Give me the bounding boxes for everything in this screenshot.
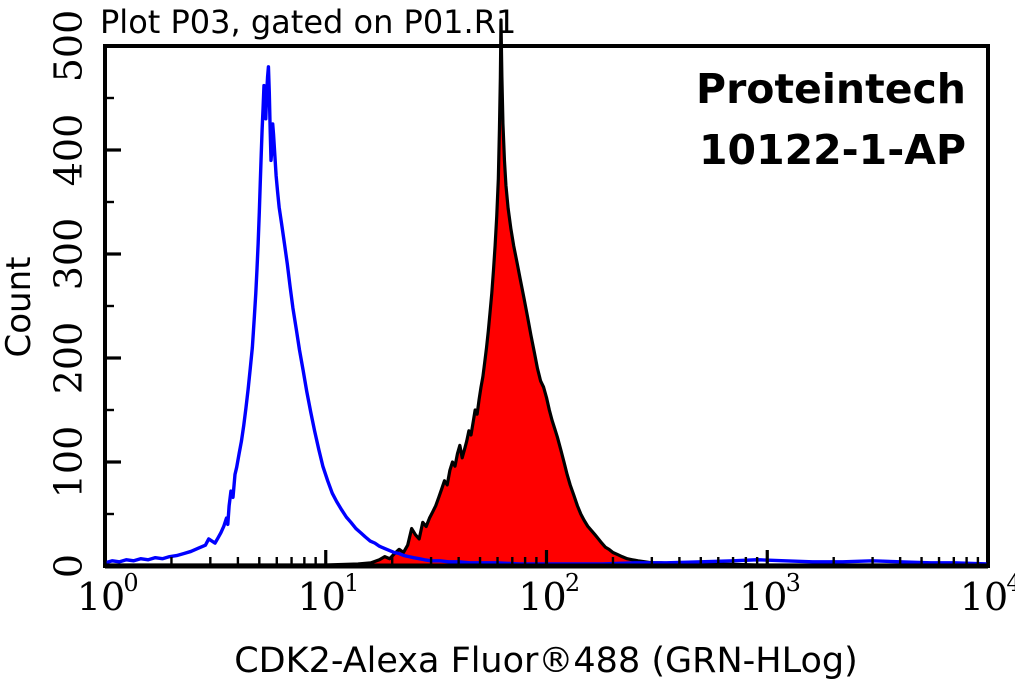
svg-text:10: 10 — [960, 575, 1008, 619]
svg-text:3: 3 — [786, 569, 801, 597]
chart-canvas: 100101102103104 0100200300400500 CDK2-Al… — [0, 0, 1015, 683]
y-tick-label-3: 300 — [47, 218, 91, 291]
svg-text:0: 0 — [123, 569, 138, 597]
x-tick-label-1: 101 — [298, 569, 360, 619]
x-axis-label: CDK2-Alexa Fluor®488 (GRN-HLog) — [234, 641, 858, 681]
brand-label: Proteintech — [696, 65, 966, 113]
svg-text:2: 2 — [565, 569, 580, 597]
y-tick-label-5: 500 — [47, 10, 91, 83]
svg-text:10: 10 — [77, 575, 125, 619]
x-axis-tick-labels: 100101102103104 — [77, 569, 1015, 619]
svg-text:10: 10 — [518, 575, 566, 619]
catalog-number-label: 10122-1-AP — [699, 126, 966, 174]
flow-cytometry-histogram-figure: 100101102103104 0100200300400500 CDK2-Al… — [0, 0, 1015, 683]
y-axis-label: Count — [0, 257, 39, 358]
x-tick-label-3: 103 — [739, 569, 801, 619]
y-tick-label-2: 200 — [47, 322, 91, 395]
x-tick-label-2: 102 — [518, 569, 580, 619]
y-tick-label-1: 100 — [47, 426, 91, 499]
y-axis-tick-labels: 0100200300400500 — [47, 10, 91, 578]
y-tick-label-4: 400 — [47, 114, 91, 187]
svg-text:10: 10 — [739, 575, 787, 619]
y-axis-ticks — [105, 46, 121, 566]
svg-text:10: 10 — [298, 575, 346, 619]
svg-text:1: 1 — [344, 569, 359, 597]
x-tick-label-4: 104 — [960, 569, 1015, 619]
y-tick-label-0: 0 — [47, 554, 91, 578]
plot-title: Plot P03, gated on P01.R1 — [100, 3, 516, 41]
svg-text:4: 4 — [1006, 569, 1015, 597]
